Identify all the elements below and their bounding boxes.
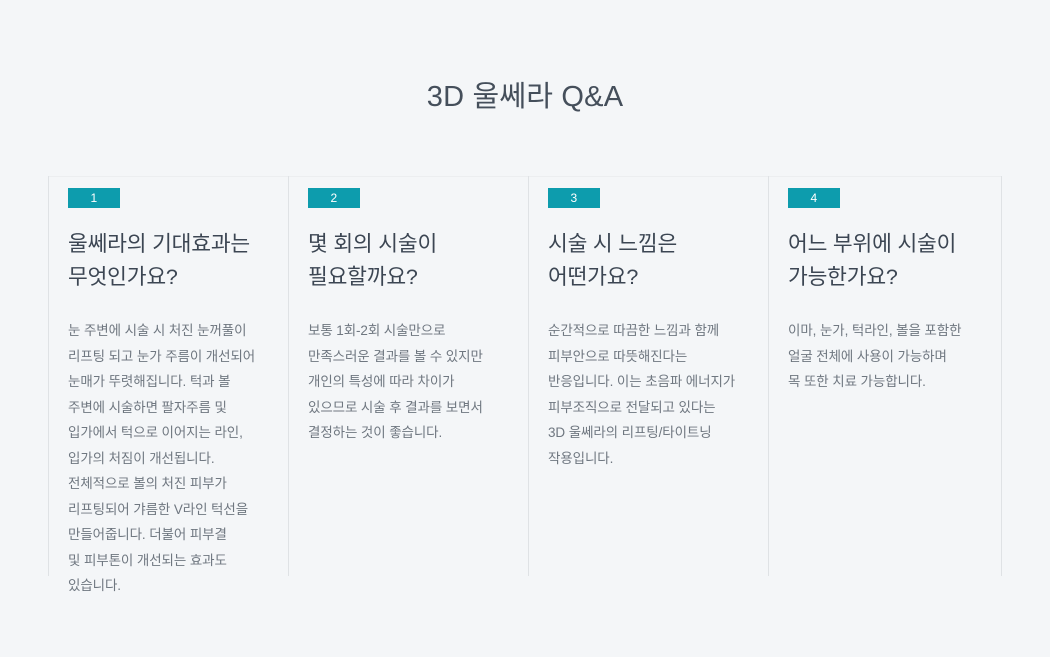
qa-item-1: 1 울쎄라의 기대효과는 무엇인가요? 눈 주변에 시술 시 처진 눈꺼풀이 리… (48, 176, 288, 576)
qa-number-badge-2: 2 (308, 188, 360, 208)
qa-item-4: 4 어느 부위에 시술이 가능한가요? 이마, 눈가, 턱라인, 볼을 포함한 … (768, 176, 1002, 576)
qa-item-3: 3 시술 시 느낌은 어떤가요? 순간적으로 따끔한 느낌과 함께 피부안으로 … (528, 176, 768, 576)
qa-answer-4: 이마, 눈가, 턱라인, 볼을 포함한 얼굴 전체에 사용이 가능하며 목 또한… (788, 318, 980, 395)
qa-number-badge-3: 3 (548, 188, 600, 208)
page-title: 3D 울쎄라 Q&A (0, 77, 1050, 117)
qa-answer-3: 순간적으로 따끔한 느낌과 함께 피부안으로 따뜻해진다는 반응입니다. 이는 … (548, 318, 746, 471)
qa-columns: 1 울쎄라의 기대효과는 무엇인가요? 눈 주변에 시술 시 처진 눈꺼풀이 리… (48, 176, 1002, 576)
qa-question-2: 몇 회의 시술이 필요할까요? (308, 228, 506, 294)
qa-answer-2: 보통 1회-2회 시술만으로 만족스러운 결과를 볼 수 있지만 개인의 특성에… (308, 318, 506, 446)
qa-number-badge-4: 4 (788, 188, 840, 208)
qa-board: 1 울쎄라의 기대효과는 무엇인가요? 눈 주변에 시술 시 처진 눈꺼풀이 리… (48, 176, 1002, 576)
qa-number-badge-1: 1 (68, 188, 120, 208)
qa-item-2: 2 몇 회의 시술이 필요할까요? 보통 1회-2회 시술만으로 만족스러운 결… (288, 176, 528, 576)
qa-question-3: 시술 시 느낌은 어떤가요? (548, 228, 746, 294)
qa-answer-1: 눈 주변에 시술 시 처진 눈꺼풀이 리프팅 되고 눈가 주름이 개선되어 눈매… (68, 318, 266, 599)
qa-question-1: 울쎄라의 기대효과는 무엇인가요? (68, 228, 266, 294)
qa-question-4: 어느 부위에 시술이 가능한가요? (788, 228, 980, 294)
